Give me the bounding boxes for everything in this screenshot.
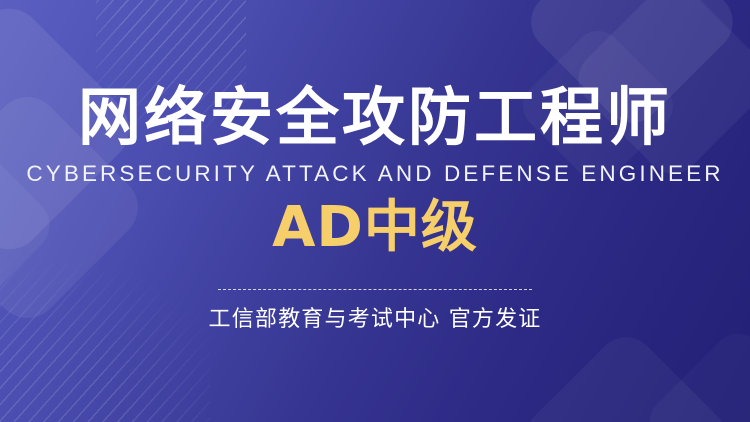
course-title-chinese: 网络安全攻防工程师 (0, 86, 750, 149)
course-title-english: CYBERSECURITY ATTACK AND DEFENSE ENGINEE… (0, 163, 750, 186)
banner-content: 网络安全攻防工程师 CYBERSECURITY ATTACK AND DEFEN… (0, 0, 750, 422)
dashed-divider (218, 289, 532, 290)
certification-course-banner: 网络安全攻防工程师 CYBERSECURITY ATTACK AND DEFEN… (0, 0, 750, 422)
issuing-authority-note: 工信部教育与考试中心 官方发证 (0, 306, 750, 335)
certification-level-badge: AD中级 (0, 200, 750, 256)
